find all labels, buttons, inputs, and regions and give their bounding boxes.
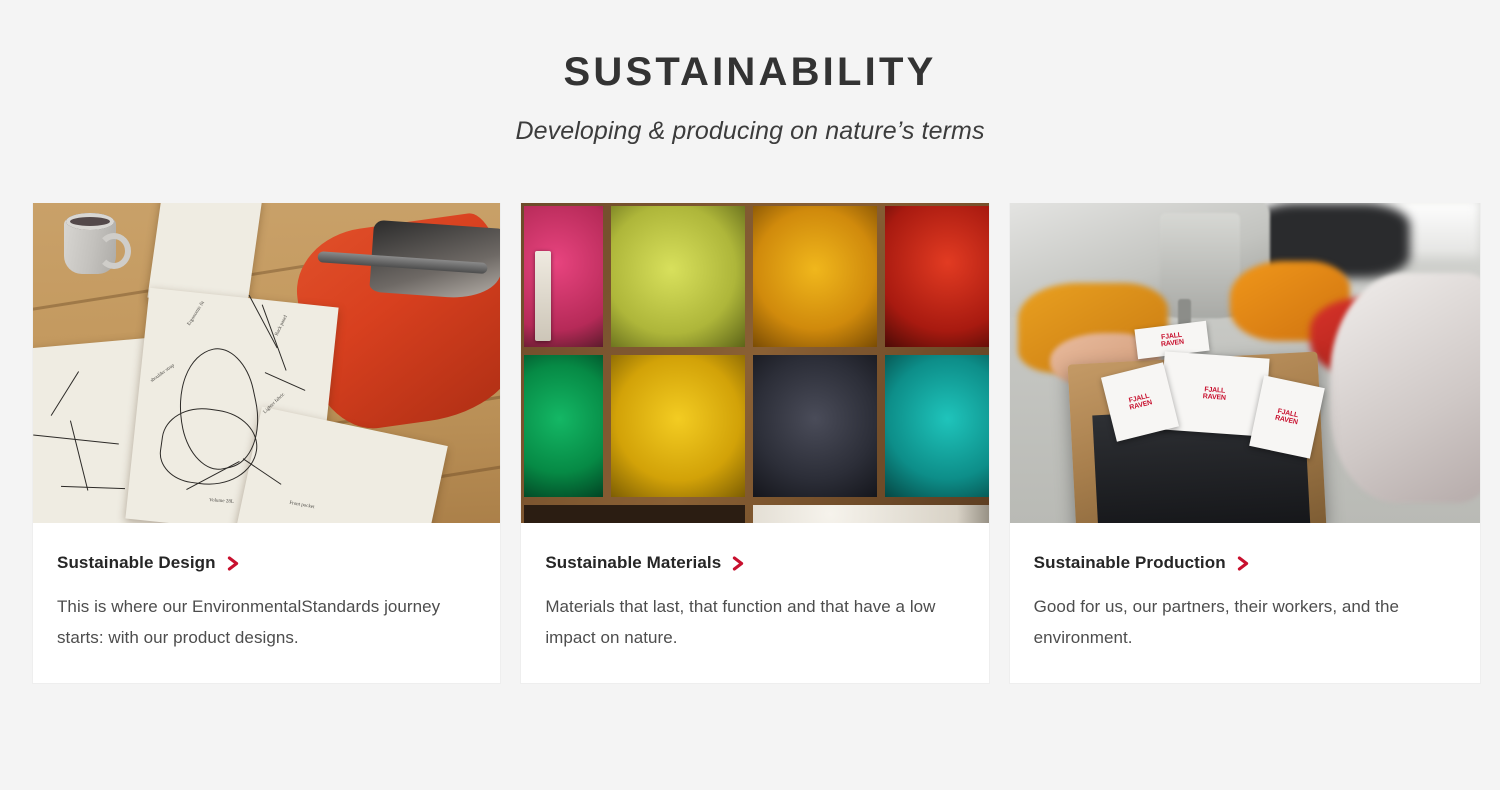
card-body-sustainable-design: Sustainable Design This is where our Env… [33,523,500,683]
card-heading-label: Sustainable Design [57,553,216,573]
card-image-sustainable-design: Ergonomic fit Back panel shoulder strap … [33,203,500,523]
page-header: SUSTAINABILITY Developing & producing on… [0,0,1500,146]
card-text-sustainable-design: This is where our EnvironmentalStandards… [57,591,457,653]
card-sustainable-production[interactable]: FJALLRAVEN FJALLRAVEN FJALLRAVEN FJALLRA… [1009,203,1481,684]
brand-logo-text: FJALLRAVEN [1274,408,1299,426]
chevron-right-icon[interactable] [732,556,745,571]
card-heading-label: Sustainable Materials [545,553,721,573]
chevron-right-icon[interactable] [227,556,240,571]
card-heading-label: Sustainable Production [1034,553,1226,573]
brand-logo-text: FJALLRAVEN [1127,392,1153,411]
card-image-sustainable-materials [521,203,988,523]
page-title: SUSTAINABILITY [0,52,1500,92]
chevron-right-icon[interactable] [1237,556,1250,571]
card-sustainable-design[interactable]: Ergonomic fit Back panel shoulder strap … [32,203,501,684]
mug-decoration [64,219,116,274]
card-image-sustainable-production: FJALLRAVEN FJALLRAVEN FJALLRAVEN FJALLRA… [1010,203,1480,523]
peg-decoration [535,251,551,341]
brand-logo-text: FJALLRAVEN [1202,386,1226,402]
card-grid: Ergonomic fit Back panel shoulder strap … [32,203,1481,684]
page-subtitle: Developing & producing on nature’s terms [0,116,1500,146]
card-body-sustainable-production: Sustainable Production Good for us, our … [1010,523,1480,683]
sustainability-page: SUSTAINABILITY Developing & producing on… [0,0,1500,790]
card-heading-sustainable-design[interactable]: Sustainable Design [57,553,476,573]
card-body-sustainable-materials: Sustainable Materials Materials that las… [521,523,988,683]
brand-logo-text: FJALLRAVEN [1159,332,1184,349]
card-text-sustainable-materials: Materials that last, that function and t… [545,591,945,653]
card-text-sustainable-production: Good for us, our partners, their workers… [1034,591,1434,653]
card-sustainable-materials[interactable]: Sustainable Materials Materials that las… [520,203,989,684]
card-heading-sustainable-production[interactable]: Sustainable Production [1034,553,1456,573]
card-heading-sustainable-materials[interactable]: Sustainable Materials [545,553,964,573]
